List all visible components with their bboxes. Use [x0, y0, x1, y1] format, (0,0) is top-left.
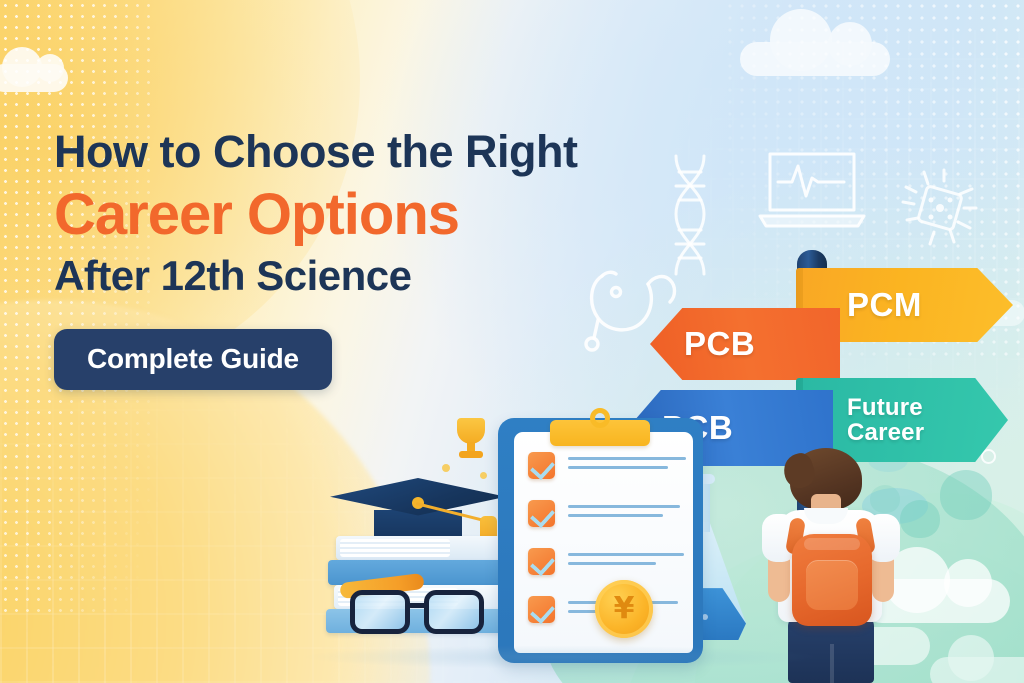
sign-future-career-label-line2: Career [847, 420, 924, 445]
checkbox-checked-icon[interactable] [528, 548, 555, 575]
checklist-text-lines [568, 505, 680, 523]
headline-line-1: How to Choose the Right [54, 128, 674, 176]
career-options-banner: How to Choose the Right Career Options A… [0, 0, 1024, 683]
checkbox-checked-icon[interactable] [528, 596, 555, 623]
checklist-row[interactable] [528, 548, 684, 575]
text-line [568, 514, 663, 517]
checklist-text-lines [568, 553, 684, 571]
text-line [568, 553, 684, 556]
sign-future-career-label-line1: Future [847, 395, 924, 420]
text-line [568, 505, 680, 508]
clipboard-ring [590, 408, 610, 428]
checklist-text-lines [568, 457, 686, 475]
lens-left [350, 590, 410, 634]
coin-currency-symbol: ¥ [595, 580, 653, 638]
backpack-top-handle [804, 538, 860, 550]
checkbox-checked-icon[interactable] [528, 452, 555, 479]
sign-pcb-orange-label: PCB [684, 325, 755, 363]
cloud-icon [740, 42, 890, 76]
backpack-pocket [806, 560, 858, 610]
headline-line-3: After 12th Science [54, 254, 674, 299]
book-pages [340, 539, 450, 557]
lens-right [424, 590, 484, 634]
text-line [568, 457, 686, 460]
headline-block: How to Choose the Right Career Options A… [54, 128, 674, 390]
microchip-icon [900, 168, 978, 246]
complete-guide-badge[interactable]: Complete Guide [54, 329, 332, 390]
study-illustration: ¥ [330, 400, 760, 683]
laptop-heartbeat-icon [758, 148, 866, 232]
cloud-icon [0, 64, 68, 92]
trophy-cup [457, 418, 485, 444]
checkbox-checked-icon[interactable] [528, 500, 555, 527]
sign-pcm-label: PCM [847, 286, 922, 324]
sign-pcb-orange[interactable]: PCB [650, 308, 840, 380]
eyeglasses-icon [350, 590, 490, 638]
headline-line-2-accent: Career Options [54, 184, 674, 245]
checklist-row[interactable] [528, 500, 680, 527]
ground-shadow [300, 645, 820, 669]
trophy-icon [454, 414, 488, 462]
cloud-icon [930, 657, 1024, 683]
gold-coin-icon: ¥ [595, 580, 653, 638]
checklist-row[interactable] [528, 452, 686, 479]
trouser-seam [830, 644, 834, 683]
text-line [568, 466, 668, 469]
sparkle-dot [442, 464, 450, 472]
trophy-base [459, 451, 483, 458]
text-line [568, 562, 656, 565]
